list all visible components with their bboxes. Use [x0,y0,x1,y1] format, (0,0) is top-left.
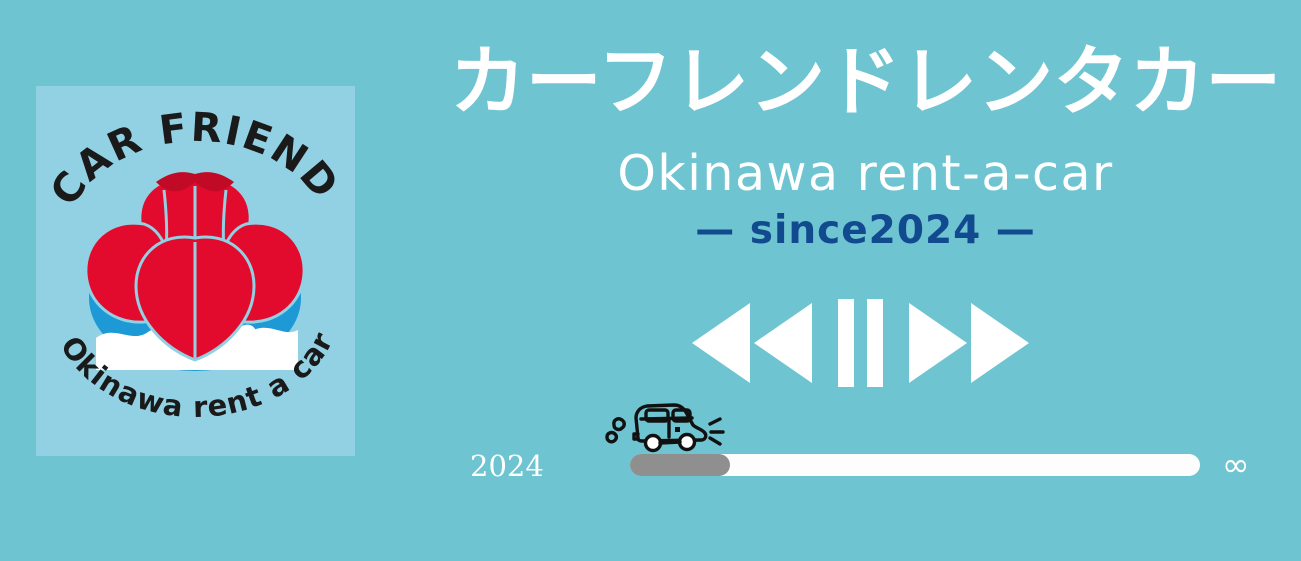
triangle-right-icon [971,303,1029,383]
rewind-button-first[interactable] [692,303,750,383]
forward-button-first[interactable] [909,303,967,383]
timeline: 2024 [470,440,1290,490]
pause-icon [867,299,883,387]
timeline-end-label: ∞ [1222,446,1250,484]
content-column: カーフレンドレンタカー Okinawa rent-a-car — since20… [430,0,1301,561]
forward-button-second[interactable] [971,303,1029,383]
car-icon [600,394,730,456]
pause-icon [838,299,854,387]
triangle-left-icon [692,303,750,383]
rewind-button-second[interactable] [754,303,812,383]
page-subtitle: Okinawa rent-a-car [430,145,1301,203]
logo-panel: CAR FRIEND Okinawa rent a car [36,86,355,456]
car-friend-logo: CAR FRIEND Okinawa rent a car [36,86,355,456]
promo-banner: CAR FRIEND Okinawa rent a car カーフレンドレンタカ… [0,0,1301,561]
since-label: — since2024 — [430,206,1301,256]
triangle-left-icon [754,303,812,383]
triangle-right-icon [909,303,967,383]
media-controls [620,295,1100,390]
pause-button[interactable] [838,299,883,387]
progress-bar[interactable] [630,454,1200,476]
timeline-start-label: 2024 [470,449,570,483]
progress-fill [630,454,730,476]
page-title: カーフレンドレンタカー [430,38,1301,126]
